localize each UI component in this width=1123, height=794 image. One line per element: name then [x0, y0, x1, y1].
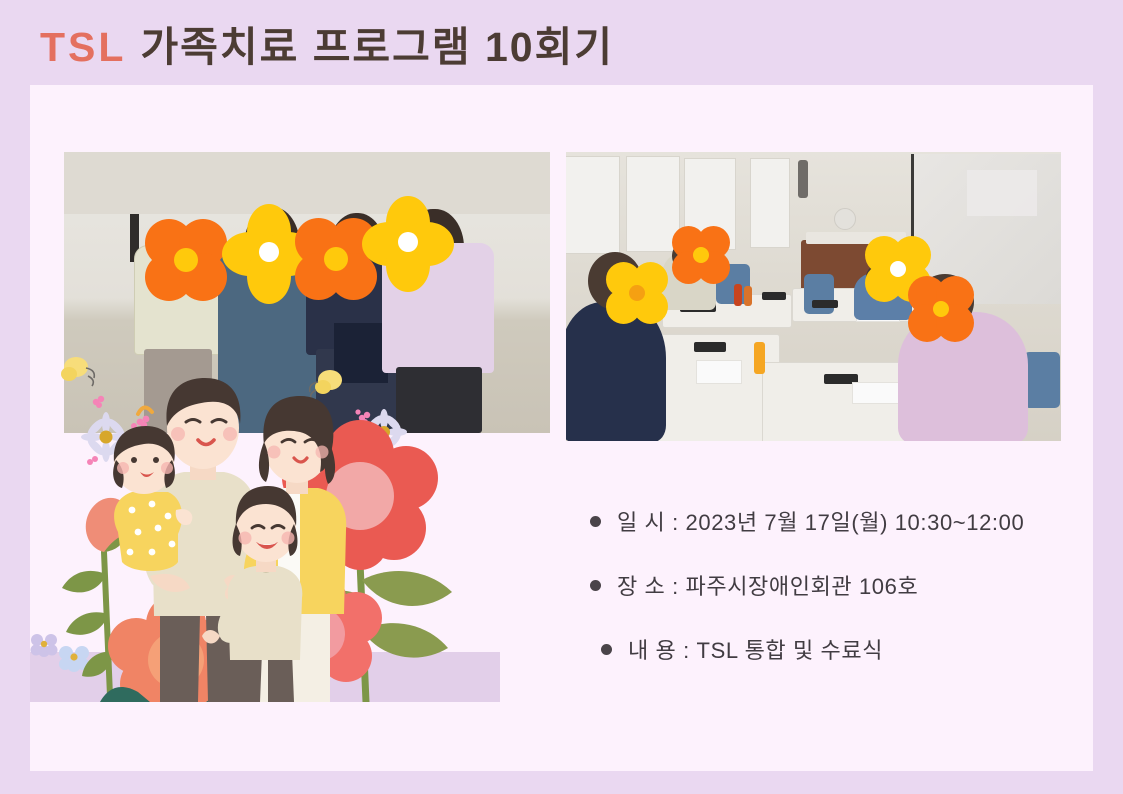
- bee-left: [61, 357, 94, 386]
- desk-device-4: [694, 342, 726, 352]
- desk-device-2: [762, 292, 786, 300]
- projected-slide: [967, 170, 1037, 216]
- info-text-place: 장 소 : 파주시장애인회관 106호: [617, 569, 918, 601]
- bullet-icon: [601, 644, 612, 655]
- chair-2: [804, 274, 834, 314]
- info-row-content: 내 용 : TSL 통합 및 수료식: [601, 633, 1060, 665]
- info-text-date: 일 시 : 2023년 7월 17일(월) 10:30~12:00: [617, 505, 1024, 537]
- family-flowers-illustration: [0, 352, 500, 686]
- flower-sticker-orange-1: [141, 215, 231, 305]
- wall-speaker: [798, 160, 808, 198]
- bottle-juice: [754, 342, 765, 374]
- window-1: [566, 156, 620, 254]
- title-accent: TSL: [40, 24, 126, 70]
- wall-clock: [834, 208, 856, 230]
- bee-right: [310, 370, 342, 400]
- info-text-content: 내 용 : TSL 통합 및 수료식: [628, 633, 883, 665]
- flower-sticker-yellow-3: [604, 260, 670, 326]
- chair-4: [1024, 352, 1060, 408]
- bottle-1: [734, 284, 742, 306]
- bullet-icon: [590, 516, 601, 527]
- desk-device-3: [812, 300, 838, 308]
- handout-2: [852, 382, 900, 404]
- bottle-2: [744, 286, 752, 306]
- flower-sticker-orange-3: [670, 224, 732, 286]
- page-title: TSL가족치료 프로그램 10회기: [40, 13, 614, 73]
- info-row-place: 장 소 : 파주시장애인회관 106호: [590, 569, 1060, 601]
- bullet-icon: [590, 580, 601, 591]
- session-photo: [566, 152, 1061, 441]
- flower-sticker-orange-4: [906, 274, 976, 344]
- title-bar: TSL가족치료 프로그램 10회기: [0, 0, 1123, 86]
- info-list: 일 시 : 2023년 7월 17일(월) 10:30~12:00 장 소 : …: [590, 505, 1060, 697]
- window-4: [750, 158, 790, 248]
- family-illustration-svg: [0, 352, 500, 702]
- info-row-date: 일 시 : 2023년 7월 17일(월) 10:30~12:00: [590, 505, 1060, 537]
- handout-1: [696, 360, 742, 384]
- flower-sticker-yellow-2: [362, 196, 454, 292]
- title-text: 가족치료 프로그램 10회기: [140, 24, 614, 70]
